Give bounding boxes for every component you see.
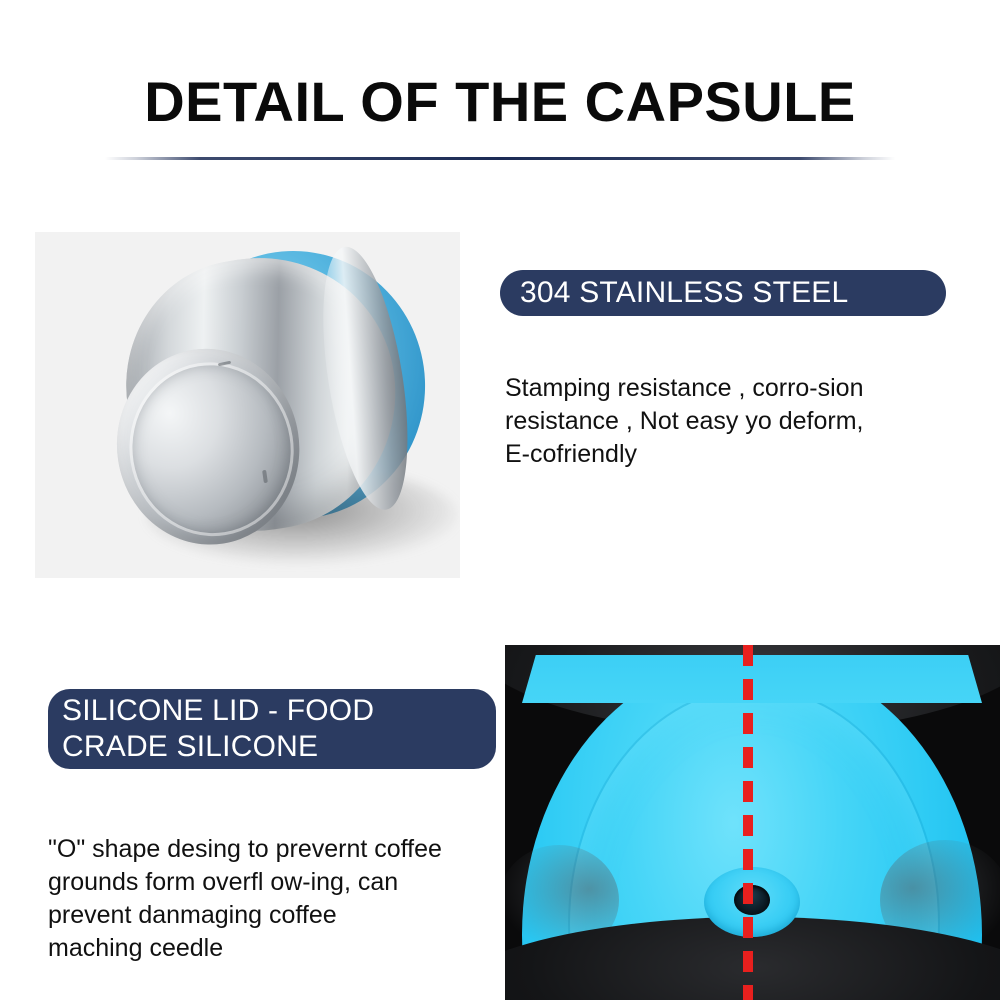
center-guide-dashed-line: [743, 645, 753, 1000]
badge-silicone-lid: SILICONE LID - FOOD CRADE SILICONE: [48, 689, 496, 769]
capsule-illustration: [35, 232, 460, 578]
title-divider: [105, 157, 895, 160]
stainless-steel-capsule-photo: [35, 232, 460, 578]
badge-stainless-steel: 304 STAINLESS STEEL: [500, 270, 946, 316]
badge-silicone-lid-label: SILICONE LID - FOOD CRADE SILICONE: [62, 693, 374, 765]
badge-stainless-steel-label: 304 STAINLESS STEEL: [520, 277, 848, 309]
page-title: DETAIL OF THE CAPSULE: [0, 72, 1000, 132]
silicone-lid-closeup-photo: [505, 645, 1000, 1000]
capsule-steel-body: [90, 236, 430, 558]
body-copy-stainless-steel: Stamping resistance , corro-sion resista…: [505, 372, 955, 471]
body-copy-silicone-lid: "O" shape desing to prevernt coffee grou…: [48, 833, 508, 965]
